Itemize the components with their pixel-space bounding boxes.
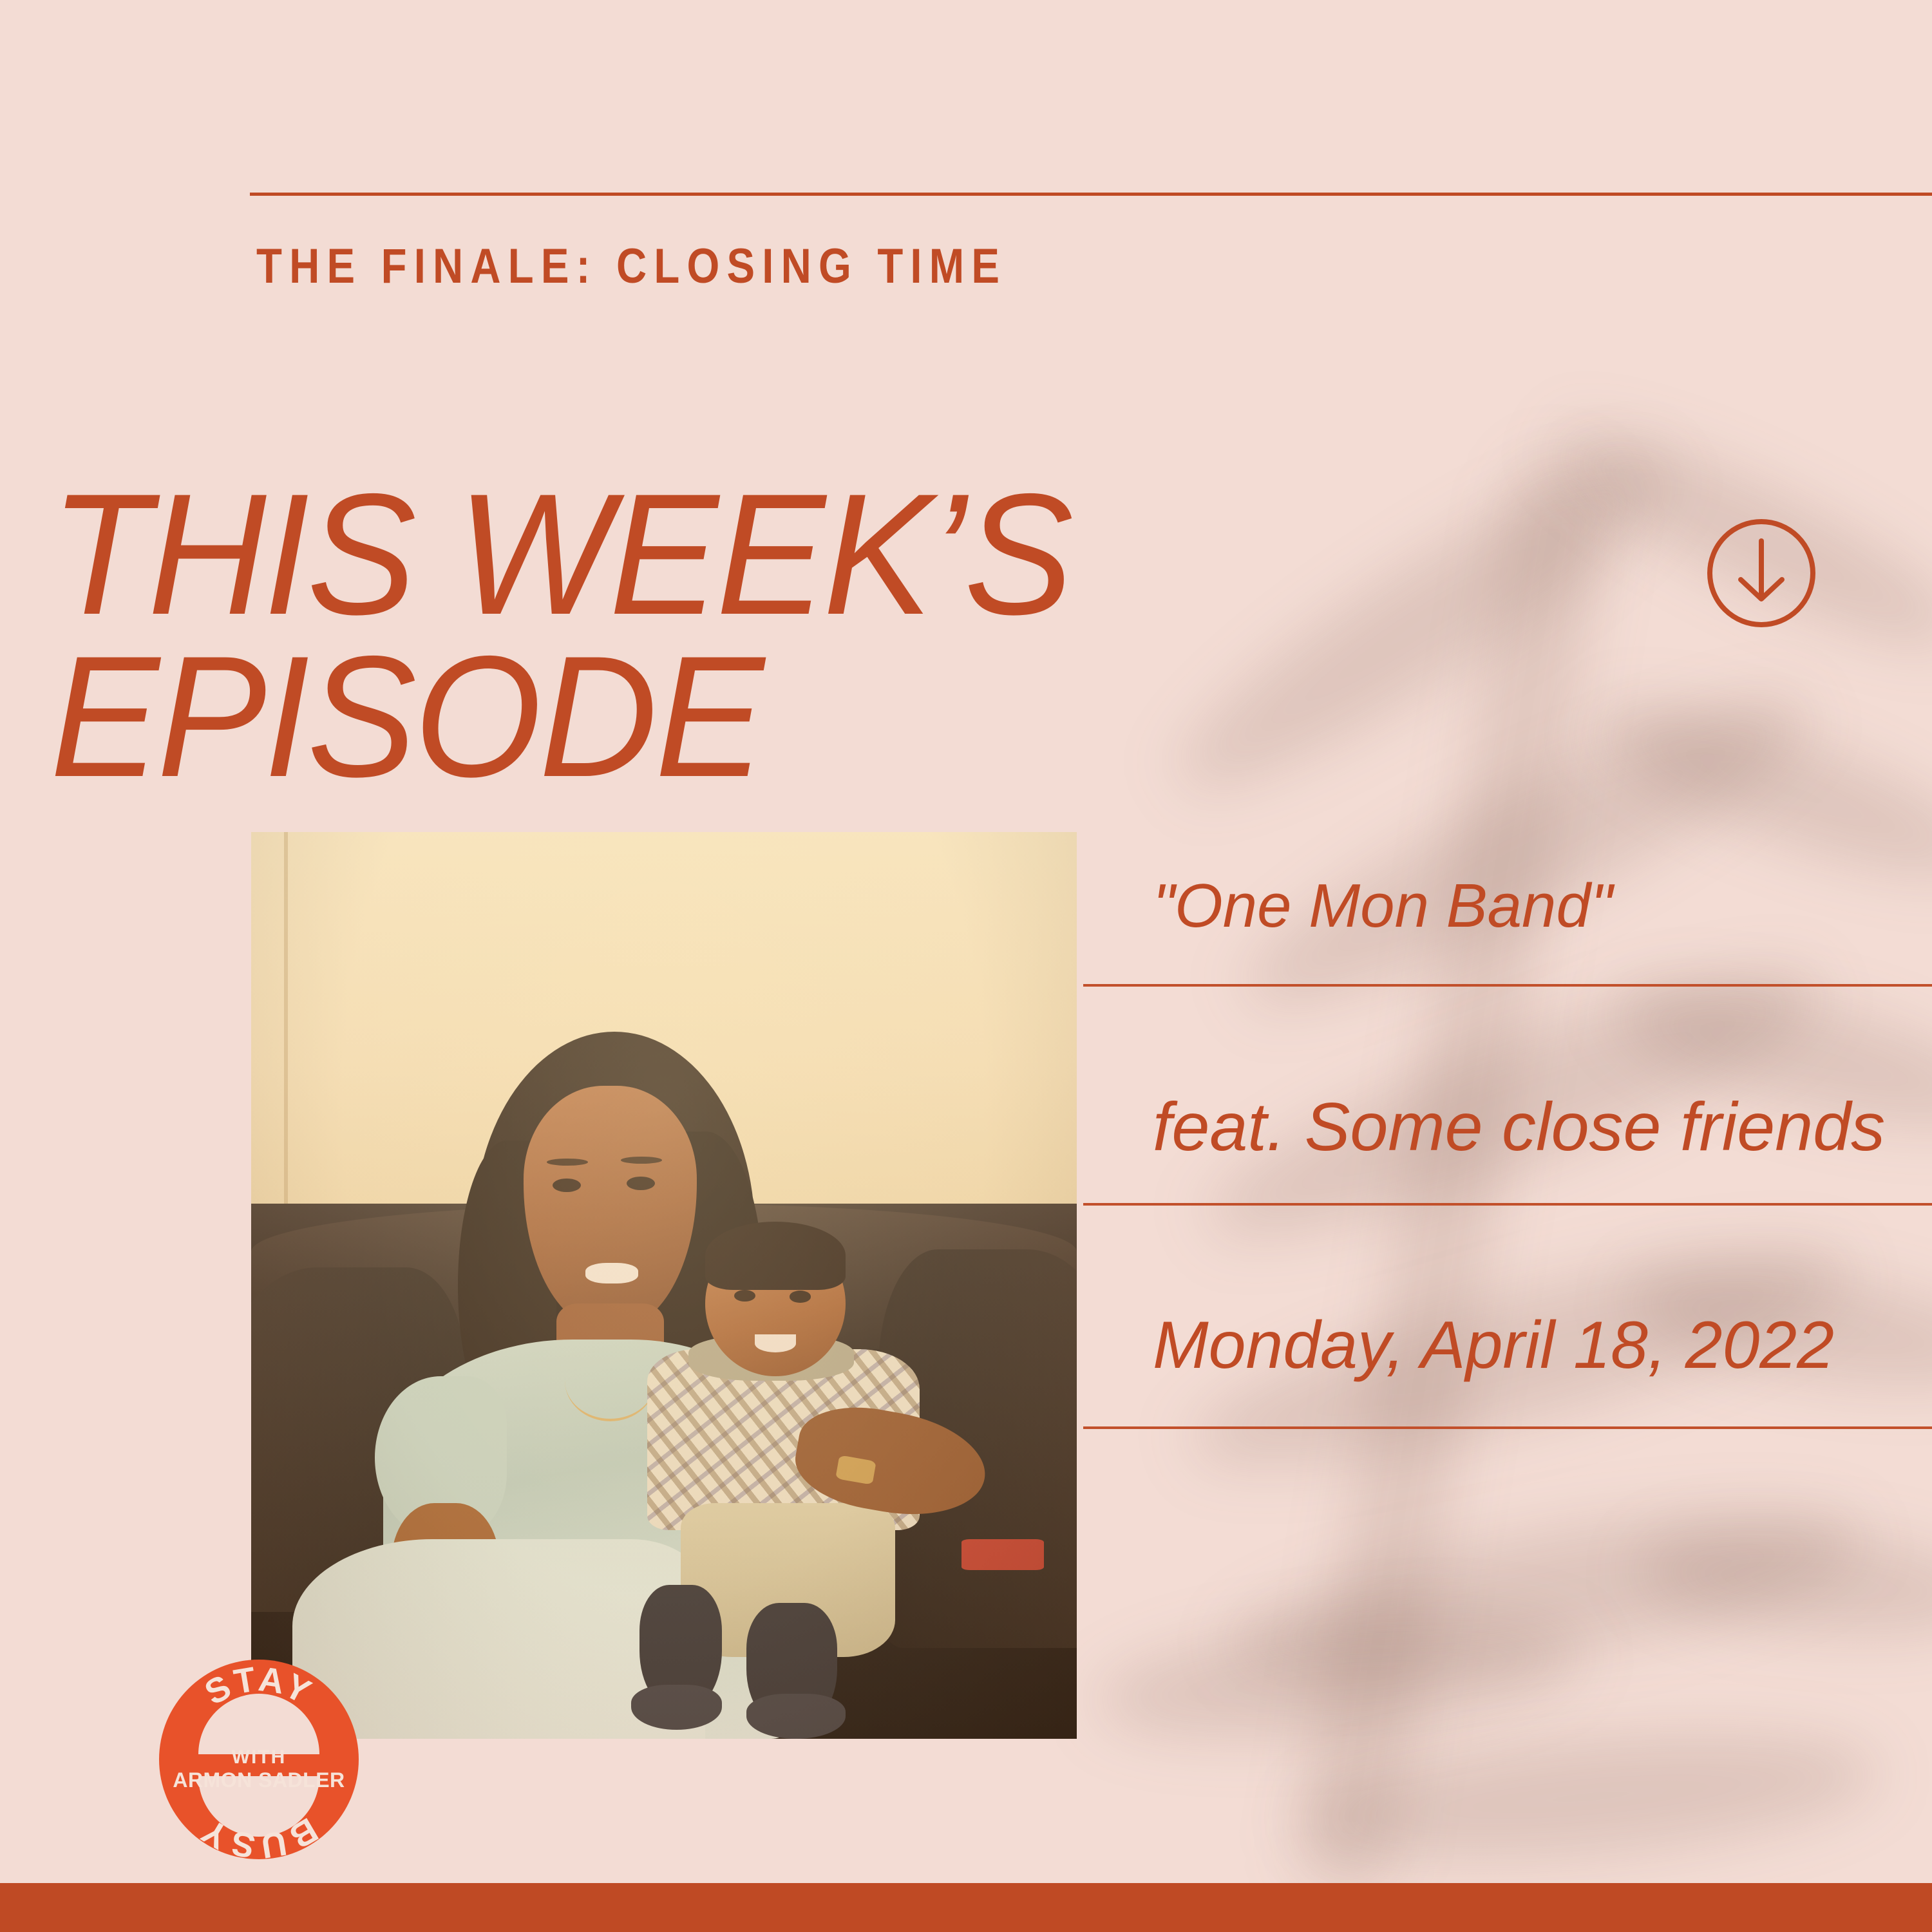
bottom-accent-bar	[0, 1883, 1932, 1932]
top-divider-rule	[250, 193, 1932, 196]
arrow-down-circle-icon[interactable]	[1703, 515, 1819, 631]
badge-with-text: WITH	[232, 1747, 287, 1768]
divider-rule-2	[1083, 1203, 1932, 1206]
divider-rule-3	[1083, 1426, 1932, 1429]
leaf-shadow-frond	[1218, 1478, 1873, 1710]
leaf-shadow-frond	[1297, 1714, 1884, 1880]
page-title: THIS WEEK’S EPISODE	[50, 473, 1519, 798]
episode-announcement-poster: THE FINALE: CLOSING TIME THIS WEEK’S EPI…	[0, 0, 1932, 1932]
episode-featuring: feat. Some close friends	[1153, 1088, 1885, 1166]
divider-rule-1	[1083, 984, 1932, 987]
leaf-shadow-frond	[1580, 673, 1932, 908]
episode-photo	[251, 832, 1077, 1739]
episode-title: "One Mon Band"	[1153, 871, 1613, 942]
leaf-shadow-frond	[1090, 1598, 1589, 1758]
badge-host-name: ARMON SADLER	[173, 1768, 345, 1792]
episode-date: Monday, April 18, 2022	[1153, 1307, 1834, 1384]
episode-kicker: THE FINALE: CLOSING TIME	[256, 238, 1007, 294]
photo-vintage-wash	[251, 832, 1077, 1739]
leaf-shadow-frond	[1632, 1517, 1932, 1648]
stay-busy-logo-badge[interactable]: STAY BUSY WITH ARMON SADLER	[156, 1656, 362, 1862]
